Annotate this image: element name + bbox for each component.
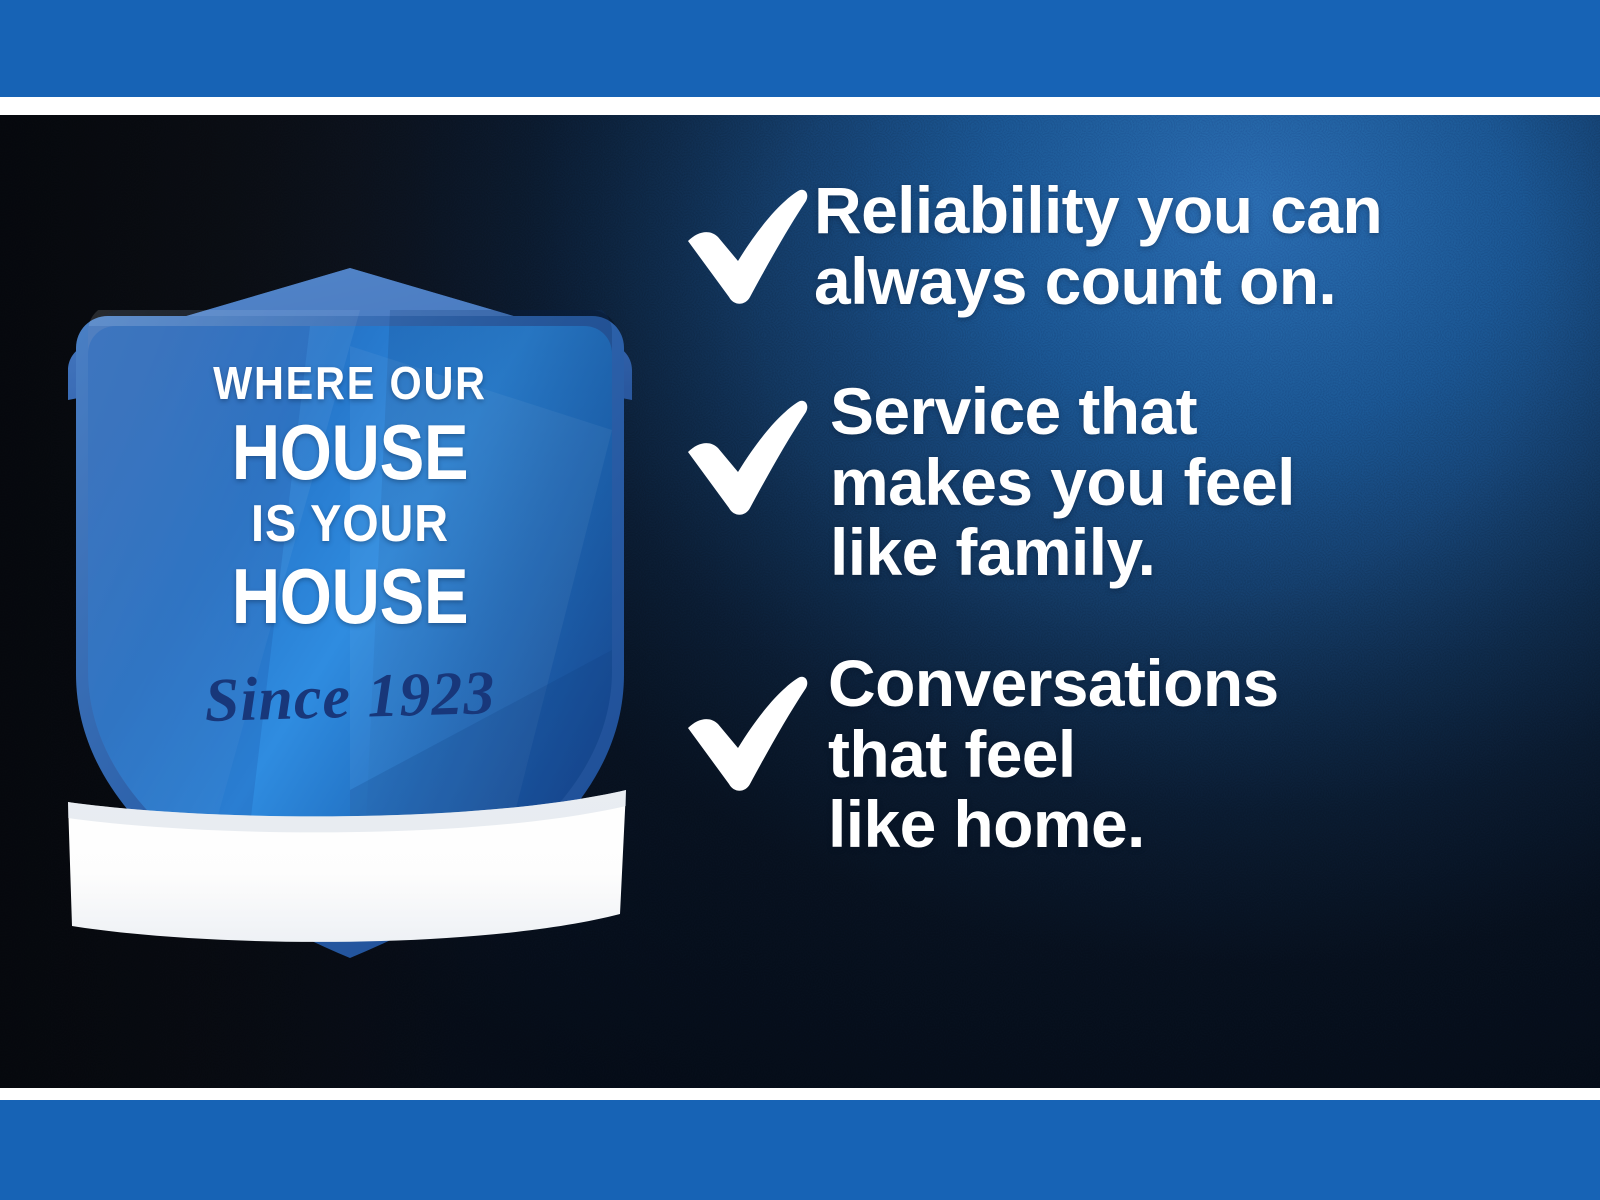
top-white-divider xyxy=(0,97,1600,115)
bottom-brand-bar xyxy=(0,1100,1600,1200)
benefit-text: Reliability you can always count on. xyxy=(814,175,1552,316)
top-brand-bar xyxy=(0,0,1600,97)
benefit-text: Service that makes you feel like family. xyxy=(830,376,1552,588)
benefit-item: Conversations that feel like home. xyxy=(672,648,1552,860)
checkmark-icon xyxy=(672,390,812,518)
shield-badge: Where Our House Is Your House Since 1923 xyxy=(60,250,640,940)
benefit-item: Service that makes you feel like family. xyxy=(672,376,1552,588)
checkmark-icon xyxy=(672,666,812,794)
promo-graphic: Where Our House Is Your House Since 1923… xyxy=(0,0,1600,1200)
benefit-item: Reliability you can always count on. xyxy=(672,175,1552,316)
bottom-white-divider xyxy=(0,1088,1600,1100)
checkmark-icon xyxy=(672,179,812,307)
benefit-text: Conversations that feel like home. xyxy=(828,648,1552,860)
benefits-list: Reliability you can always count on. Ser… xyxy=(672,175,1552,860)
